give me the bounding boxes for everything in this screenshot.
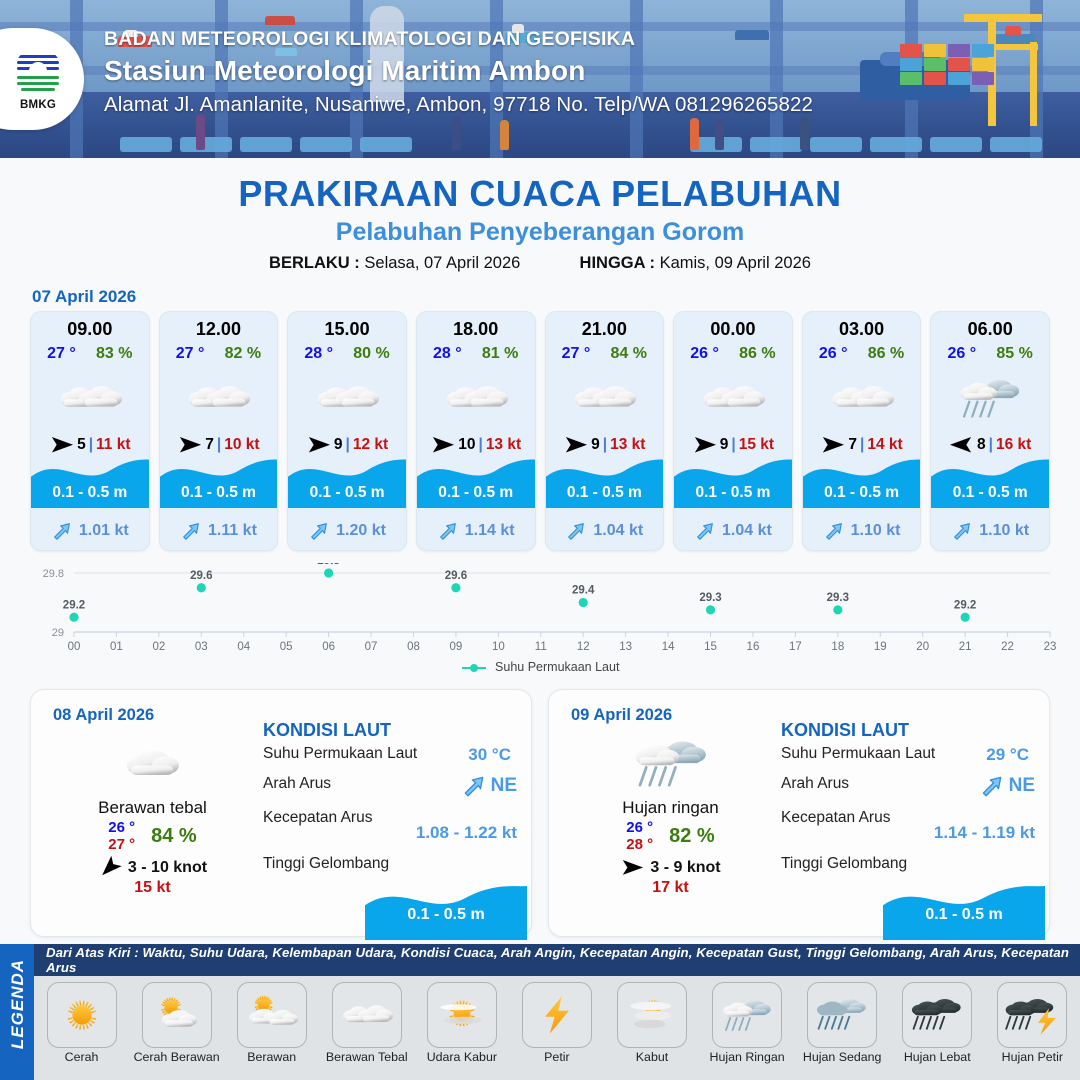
sea-condition-title: KONDISI LAUT (263, 720, 517, 741)
svg-text:29.8: 29.8 (43, 568, 64, 580)
wave-height: 0.1 - 0.5 m (931, 484, 1049, 502)
hour-temperature: 26 ° (948, 345, 977, 363)
wave-height: 0.1 - 0.5 m (674, 484, 792, 502)
wind-gust: 13 kt (610, 436, 645, 454)
day-temp-max: 28 ° (626, 837, 653, 854)
hour-time: 09.00 (31, 319, 149, 340)
wind-speed: 10 (458, 436, 475, 454)
hourly-card: 12.0027 °82 %7|10 kt0.1 - 0.5 m1.11 kt (159, 311, 279, 551)
hour-temperature: 27 ° (562, 345, 591, 363)
hour-time: 06.00 (931, 319, 1049, 340)
current-direction-arrow-icon (694, 520, 716, 542)
wind-speed: 8 (977, 436, 986, 454)
wind-gust: 12 kt (353, 436, 388, 454)
sst-value: 29 °C (986, 745, 1029, 765)
weather-cloudy-icon (417, 369, 535, 427)
hourly-card: 03.0026 °86 %7|14 kt0.1 - 0.5 m1.10 kt (802, 311, 922, 551)
wave-height: 0.1 - 0.5 m (288, 484, 406, 502)
current-direction-arrow-icon (979, 773, 1005, 799)
hourly-card: 18.0028 °81 %10|13 kt0.1 - 0.5 m1.14 kt (416, 311, 536, 551)
valid-until-label: HINGGA : (580, 254, 655, 272)
sst-chart-svg: 2929.80001020304050607080910111213141516… (8, 563, 1072, 658)
hourly-card: 15.0028 °80 %9|12 kt0.1 - 0.5 m1.20 kt (287, 311, 407, 551)
legend-item: Hujan Ringan (700, 982, 795, 1064)
wind-direction-arrow-icon (820, 437, 845, 453)
wind-gust: 13 kt (486, 436, 521, 454)
day-gust: 17 kt (563, 879, 778, 897)
wind-direction-arrow-icon (949, 437, 974, 453)
day-humidity: 84 % (151, 825, 197, 848)
svg-text:20: 20 (916, 641, 929, 653)
valid-until-value: Kamis, 09 April 2026 (660, 254, 811, 272)
legend-item-label: Hujan Petir (985, 1050, 1080, 1064)
weather-cloudy-icon (31, 369, 149, 427)
svg-text:19: 19 (874, 641, 887, 653)
sst-label: Suhu Permukaan Laut (781, 745, 935, 762)
svg-text:13: 13 (619, 641, 632, 653)
title-block: PRAKIRAAN CUACA PELABUHAN Pelabuhan Peny… (0, 173, 1080, 273)
day-temp-min: 26 ° (626, 820, 653, 837)
svg-text:17: 17 (789, 641, 802, 653)
valid-from-value: Selasa, 07 April 2026 (364, 254, 520, 272)
current-speed: 1.20 kt (336, 522, 386, 540)
legend-item-label: Hujan Lebat (890, 1050, 985, 1064)
wave-height-label: Tinggi Gelombang (781, 855, 907, 872)
wave-height: 0.1 - 0.5 m (160, 484, 278, 502)
svg-text:29.3: 29.3 (699, 592, 721, 604)
weather-sun-icon (47, 982, 117, 1048)
hour-temperature: 27 ° (47, 345, 76, 363)
legend-item: Hujan Lebat (890, 982, 985, 1064)
hour-humidity: 86 % (739, 345, 775, 363)
svg-text:29.2: 29.2 (954, 599, 976, 611)
current-direction-arrow-icon (180, 520, 202, 542)
day-temp-max: 27 ° (108, 837, 135, 854)
legend-item: Berawan Tebal (319, 982, 414, 1064)
legend-item-label: Berawan Tebal (319, 1050, 414, 1064)
svg-text:10: 10 (492, 641, 505, 653)
hour-temperature: 26 ° (819, 345, 848, 363)
svg-text:04: 04 (237, 641, 250, 653)
hourly-card: 00.0026 °86 %9|15 kt0.1 - 0.5 m1.04 kt (673, 311, 793, 551)
svg-text:06: 06 (322, 641, 335, 653)
legend-items: CerahCerah BerawanBerawanBerawan TebalUd… (34, 978, 1080, 1080)
legend-item-label: Kabut (605, 1050, 700, 1064)
hourly-forecast-row: 09.0027 °83 %5|11 kt0.1 - 0.5 m1.01 kt12… (0, 311, 1080, 551)
svg-text:29.3: 29.3 (827, 592, 849, 604)
hour-humidity: 83 % (96, 345, 132, 363)
svg-text:29.2: 29.2 (63, 599, 85, 611)
legend-note-bar: Dari Atas Kiri : Waktu, Suhu Udara, Kele… (34, 944, 1080, 976)
weather-rain-heavy-icon (902, 982, 972, 1048)
current-direction-arrow-icon (437, 520, 459, 542)
wind-separator: | (217, 436, 221, 454)
legend-item-label: Berawan (224, 1050, 319, 1064)
wind-gust: 11 kt (96, 436, 130, 454)
svg-text:05: 05 (280, 641, 293, 653)
wind-separator: | (478, 436, 482, 454)
hour-temperature: 27 ° (176, 345, 205, 363)
daily-panel: 08 April 2026Berawan tebal26 °27 °84 %3 … (30, 689, 532, 937)
svg-text:07: 07 (365, 641, 378, 653)
station-name: Stasiun Meteorologi Maritim Ambon (104, 55, 813, 87)
daily-panel: 09 April 2026Hujan ringan26 °28 °82 %3 -… (548, 689, 1050, 937)
legend-item: Hujan Petir (985, 982, 1080, 1064)
page-subtitle: Pelabuhan Penyeberangan Gorom (0, 218, 1080, 247)
hour-humidity: 84 % (611, 345, 647, 363)
wind-direction-arrow-icon (177, 437, 202, 453)
legend-item: Hujan Sedang (795, 982, 890, 1064)
svg-text:23: 23 (1044, 641, 1057, 653)
weather-rain-medium-icon (807, 982, 877, 1048)
current-direction-label: Arah Arus (263, 775, 331, 792)
wave-height: 0.1 - 0.5 m (546, 484, 664, 502)
current-speed-label: Kecepatan Arus (781, 809, 890, 826)
wind-gust: 10 kt (224, 436, 259, 454)
svg-text:22: 22 (1001, 641, 1014, 653)
svg-text:09: 09 (450, 641, 463, 653)
day-gust: 15 kt (45, 879, 260, 897)
weather-cloudy-icon (160, 369, 278, 427)
wind-direction-arrow-icon (306, 437, 331, 453)
weather-cloudy-icon (674, 369, 792, 427)
legend-tab-label: LEGENDA (8, 948, 28, 1060)
hour-temperature: 28 ° (304, 345, 333, 363)
current-speed: 1.01 kt (79, 522, 129, 540)
legend-item-label: Cerah Berawan (129, 1050, 224, 1064)
chart-legend-label: Suhu Permukaan Laut (495, 660, 619, 674)
legend-item: Udara Kabur (414, 982, 509, 1064)
legend-item: Kabut (605, 982, 700, 1064)
hourly-card: 21.0027 °84 %9|13 kt0.1 - 0.5 m1.04 kt (545, 311, 665, 551)
wind-direction-arrow-icon (692, 437, 717, 453)
sst-chart: 2929.80001020304050607080910111213141516… (0, 563, 1080, 681)
wind-direction-arrow-icon (563, 437, 588, 453)
legend-item-label: Petir (509, 1050, 604, 1064)
wind-direction-arrow-icon (98, 860, 122, 875)
hour-time: 18.00 (417, 319, 535, 340)
validity-dates: BERLAKU : Selasa, 07 April 2026 HINGGA :… (0, 254, 1080, 273)
svg-text:29: 29 (52, 627, 64, 639)
weather-rain-thunder-icon (997, 982, 1067, 1048)
station-address: Alamat Jl. Amanlanite, Nusaniwe, Ambon, … (104, 93, 813, 117)
hour-humidity: 80 % (353, 345, 389, 363)
svg-text:01: 01 (110, 641, 123, 653)
hourly-card: 06.0026 °85 %8|16 kt0.1 - 0.5 m1.10 kt (930, 311, 1050, 551)
wind-speed: 7 (848, 436, 857, 454)
legend-item-label: Udara Kabur (414, 1050, 509, 1064)
weather-cloud-sun-more-icon (237, 982, 307, 1048)
hour-humidity: 82 % (225, 345, 261, 363)
current-speed-value: 1.08 - 1.22 kt (263, 823, 517, 843)
bmkg-emblem-icon (13, 48, 63, 98)
day-wind-range: 3 - 10 knot (128, 859, 207, 877)
day-temp-min: 26 ° (108, 820, 135, 837)
sst-value: 30 °C (468, 745, 511, 765)
weather-cloudy-thick-icon (45, 732, 260, 794)
current-direction-arrow-icon (823, 520, 845, 542)
page-header: BMKG BADAN METEOROLOGI KLIMATOLOGI DAN G… (0, 0, 1080, 158)
current-direction-arrow-icon (951, 520, 973, 542)
wave-height: 0.1 - 0.5 m (803, 484, 921, 502)
wind-separator: | (89, 436, 93, 454)
day-date: 09 April 2026 (571, 706, 672, 725)
agency-name: BADAN METEOROLOGI KLIMATOLOGI DAN GEOFIS… (104, 28, 813, 51)
legend-strip: LEGENDA Dari Atas Kiri : Waktu, Suhu Uda… (0, 944, 1080, 1080)
wind-separator: | (860, 436, 864, 454)
hour-time: 00.00 (674, 319, 792, 340)
current-speed: 1.10 kt (979, 522, 1029, 540)
current-speed: 1.04 kt (722, 522, 772, 540)
current-direction-arrow-icon (565, 520, 587, 542)
weather-rain-light-icon (563, 732, 778, 794)
weather-cloudy-icon (546, 369, 664, 427)
svg-text:21: 21 (959, 641, 972, 653)
hour-time: 12.00 (160, 319, 278, 340)
legend-note: Dari Atas Kiri : Waktu, Suhu Udara, Kele… (34, 945, 1080, 975)
chart-legend: Suhu Permukaan Laut (8, 660, 1072, 674)
svg-text:02: 02 (152, 641, 165, 653)
weather-lightning-icon (522, 982, 592, 1048)
current-direction-value: NE (1009, 775, 1035, 797)
page-title: PRAKIRAAN CUACA PELABUHAN (0, 173, 1080, 215)
svg-text:12: 12 (577, 641, 590, 653)
hour-humidity: 81 % (482, 345, 518, 363)
weather-haze-icon (427, 982, 497, 1048)
wind-speed: 9 (591, 436, 600, 454)
legend-item: Cerah Berawan (129, 982, 224, 1064)
legend-item-label: Cerah (34, 1050, 129, 1064)
svg-text:03: 03 (195, 641, 208, 653)
forecast-date-label: 07 April 2026 (32, 287, 1080, 307)
wind-gust: 15 kt (739, 436, 774, 454)
wind-gust: 16 kt (996, 436, 1031, 454)
legend-item: Petir (509, 982, 604, 1064)
hour-temperature: 26 ° (690, 345, 719, 363)
hour-time: 21.00 (546, 319, 664, 340)
day-condition: Berawan tebal (45, 798, 260, 818)
bmkg-logo-text: BMKG (13, 99, 63, 111)
weather-cloud-thick-icon (332, 982, 402, 1048)
current-speed: 1.04 kt (593, 522, 643, 540)
legend-tab: LEGENDA (0, 944, 34, 1080)
wind-speed: 9 (334, 436, 343, 454)
wind-speed: 7 (205, 436, 214, 454)
chart-legend-marker-icon (461, 663, 487, 673)
wind-separator: | (346, 436, 350, 454)
svg-text:08: 08 (407, 641, 420, 653)
current-speed-label: Kecepatan Arus (263, 809, 372, 826)
wave-height: 0.1 - 0.5 m (31, 484, 149, 502)
svg-text:00: 00 (68, 641, 81, 653)
legend-item-label: Hujan Sedang (795, 1050, 890, 1064)
hour-time: 15.00 (288, 319, 406, 340)
wind-speed: 5 (77, 436, 86, 454)
wave-height-label: Tinggi Gelombang (263, 855, 389, 872)
wave-height-value: 0.1 - 0.5 m (365, 906, 527, 924)
current-speed: 1.14 kt (465, 522, 515, 540)
current-speed: 1.10 kt (851, 522, 901, 540)
svg-text:15: 15 (704, 641, 717, 653)
current-direction-label: Arah Arus (781, 775, 849, 792)
hour-humidity: 86 % (868, 345, 904, 363)
daily-forecast-panels: 08 April 2026Berawan tebal26 °27 °84 %3 … (0, 681, 1080, 937)
svg-text:11: 11 (535, 641, 547, 653)
svg-text:29.8: 29.8 (317, 563, 340, 567)
hour-temperature: 28 ° (433, 345, 462, 363)
sst-label: Suhu Permukaan Laut (263, 745, 417, 762)
day-condition: Hujan ringan (563, 798, 778, 818)
hourly-card: 09.0027 °83 %5|11 kt0.1 - 0.5 m1.01 kt (30, 311, 150, 551)
wind-direction-arrow-icon (49, 437, 74, 453)
wave-height: 0.1 - 0.5 m (417, 484, 535, 502)
weather-rain-light-icon (712, 982, 782, 1048)
weather-sun-cloud-icon (142, 982, 212, 1048)
weather-cloudy-icon (803, 369, 921, 427)
hour-time: 03.00 (803, 319, 921, 340)
current-direction-arrow-icon (51, 520, 73, 542)
current-speed: 1.11 kt (208, 522, 257, 540)
current-speed-value: 1.14 - 1.19 kt (781, 823, 1035, 843)
wind-separator: | (989, 436, 993, 454)
weather-rain-light-icon (931, 369, 1049, 427)
weather-cloudy-icon (288, 369, 406, 427)
current-direction-arrow-icon (308, 520, 330, 542)
hour-humidity: 85 % (996, 345, 1032, 363)
svg-text:16: 16 (747, 641, 760, 653)
wind-direction-arrow-icon (620, 860, 644, 875)
weather-fog-icon (617, 982, 687, 1048)
svg-text:18: 18 (831, 641, 844, 653)
svg-text:29.6: 29.6 (445, 570, 467, 582)
svg-text:29.4: 29.4 (572, 585, 595, 597)
legend-item: Cerah (34, 982, 129, 1064)
svg-text:14: 14 (662, 641, 675, 653)
wave-height-value: 0.1 - 0.5 m (883, 906, 1045, 924)
sea-condition-title: KONDISI LAUT (781, 720, 1035, 741)
valid-from-label: BERLAKU : (269, 254, 360, 272)
wind-gust: 14 kt (867, 436, 902, 454)
legend-item: Berawan (224, 982, 319, 1064)
svg-text:29.6: 29.6 (190, 570, 212, 582)
day-humidity: 82 % (669, 825, 715, 848)
wind-speed: 9 (720, 436, 729, 454)
wind-separator: | (603, 436, 607, 454)
legend-item-label: Hujan Ringan (700, 1050, 795, 1064)
wind-direction-arrow-icon (430, 437, 455, 453)
current-direction-arrow-icon (461, 773, 487, 799)
day-wind-range: 3 - 9 knot (650, 859, 720, 877)
current-direction-value: NE (491, 775, 517, 797)
day-date: 08 April 2026 (53, 706, 154, 725)
wind-separator: | (731, 436, 735, 454)
